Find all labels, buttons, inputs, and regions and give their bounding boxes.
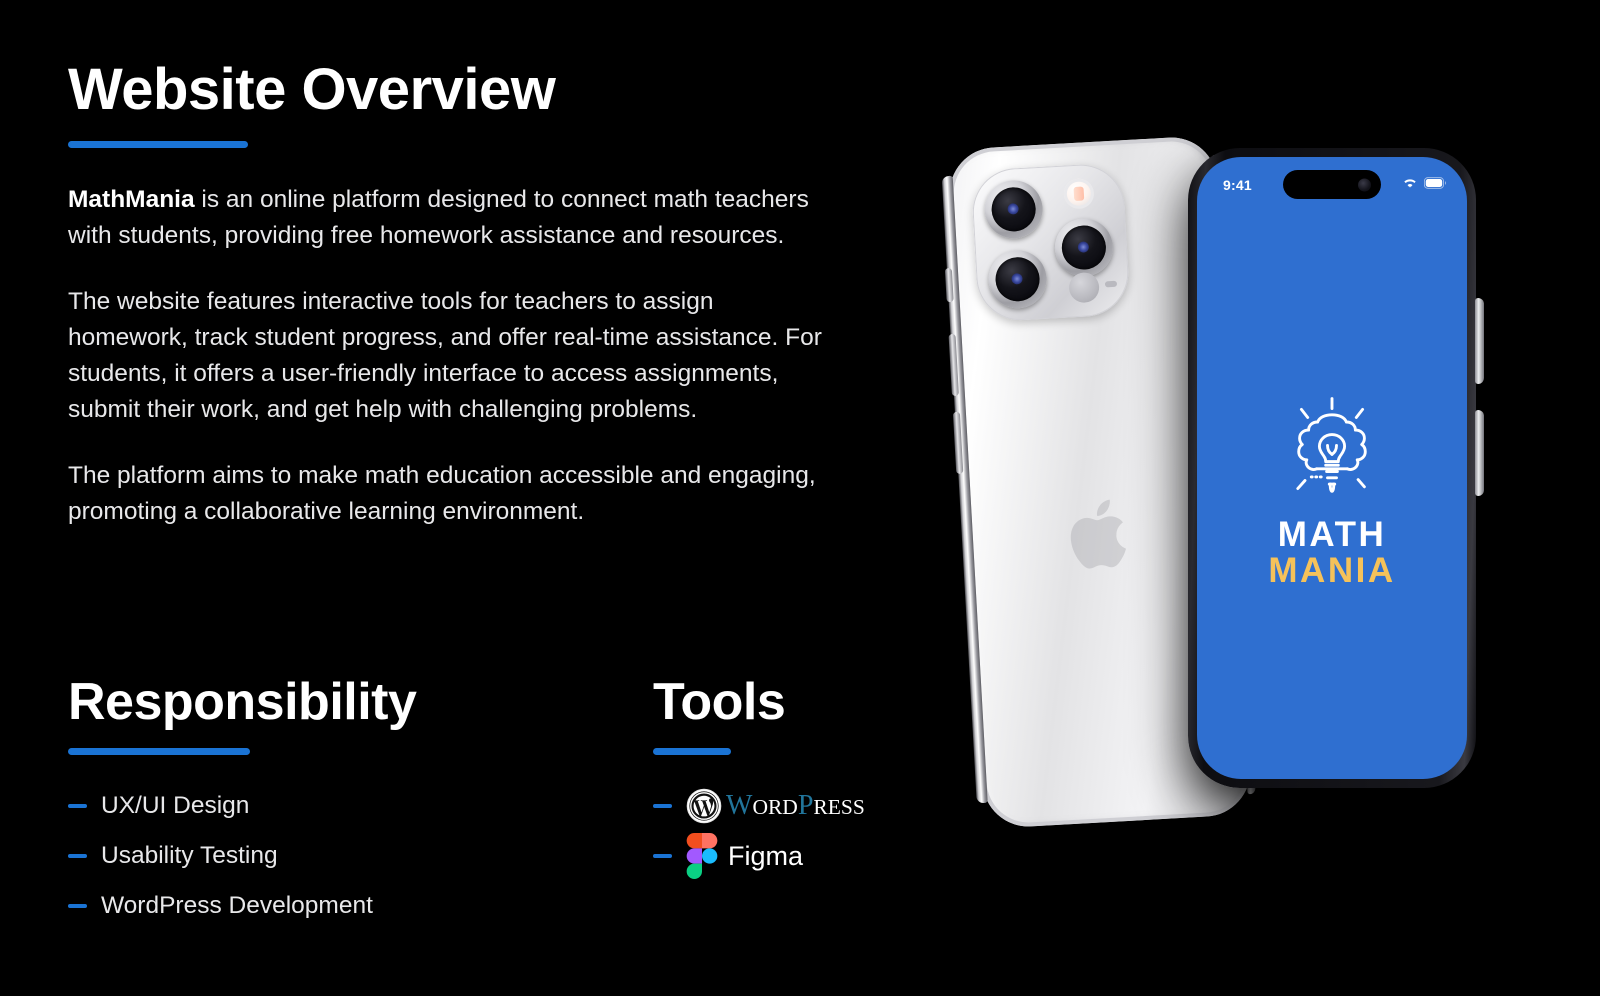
list-item: Usability Testing: [68, 841, 653, 871]
microphone-icon: [1105, 281, 1117, 288]
dash-bullet-icon: [653, 854, 672, 858]
brain-lightbulb-icon: [1278, 393, 1386, 505]
tools-list: WORDPRESS Figma: [653, 791, 888, 871]
wp-letters-ord: ORD: [752, 795, 797, 819]
dash-bullet-icon: [653, 804, 672, 808]
paragraph-2: The website features interactive tools f…: [68, 284, 840, 427]
paragraph-3: The platform aims to make math education…: [68, 458, 840, 530]
phone-mockup: 9:41: [930, 120, 1530, 880]
app-name-line1: MATH: [1278, 517, 1387, 553]
responsibility-item-label: UX/UI Design: [101, 794, 249, 819]
brand-name: MathMania: [68, 186, 195, 213]
page-title: Website Overview: [68, 60, 868, 121]
wordpress-icon: [686, 788, 722, 824]
wifi-icon: [1402, 176, 1418, 189]
figma-wordmark: Figma: [728, 843, 803, 870]
battery-icon: [1424, 177, 1447, 189]
slide-canvas: Website Overview MathMania is an online …: [0, 0, 1600, 996]
dynamic-island: [1283, 170, 1381, 199]
tools-title: Tools: [653, 676, 888, 728]
camera-lens-icon: [987, 249, 1048, 310]
apple-logo-icon: [1068, 492, 1138, 576]
mute-switch: [945, 268, 954, 302]
camera-lens-icon: [983, 179, 1044, 240]
volume-down-button: [953, 412, 963, 474]
dash-bullet-icon: [68, 804, 87, 808]
responsibility-accent-rule: [68, 748, 250, 755]
bottom-sections: Responsibility UX/UI Design Usability Te…: [68, 676, 888, 921]
responsibility-item-label: WordPress Development: [101, 894, 373, 919]
wordpress-wordmark: WORDPRESS: [726, 792, 865, 820]
dash-bullet-icon: [68, 904, 87, 908]
list-item: WordPress Development: [68, 891, 653, 921]
responsibility-title: Responsibility: [68, 676, 653, 728]
list-item: UX/UI Design: [68, 791, 653, 821]
volume-up-button: [949, 334, 959, 396]
wp-letter-p: P: [798, 790, 814, 821]
overview-section: Website Overview MathMania is an online …: [68, 60, 868, 530]
overview-body: MathMania is an online platform designed…: [68, 182, 840, 530]
camera-lens-icon: [1053, 217, 1114, 278]
paragraph-1: MathMania is an online platform designed…: [68, 182, 840, 254]
list-item: WORDPRESS: [653, 791, 888, 821]
camera-module: [970, 162, 1130, 322]
figma-icon: [686, 833, 718, 879]
flash-icon: [1063, 178, 1095, 210]
responsibility-section: Responsibility UX/UI Design Usability Te…: [68, 676, 653, 921]
dash-bullet-icon: [68, 854, 87, 858]
front-camera-icon: [1358, 178, 1371, 191]
tools-section: Tools: [653, 676, 888, 921]
status-bar-indicators: [1402, 176, 1447, 189]
front-phone: 9:41: [1188, 148, 1476, 788]
status-bar-time: 9:41: [1223, 177, 1252, 193]
responsibility-item-label: Usability Testing: [101, 844, 278, 869]
wordpress-logo: WORDPRESS: [686, 788, 865, 824]
figma-logo: Figma: [686, 833, 803, 879]
title-accent-rule: [68, 141, 248, 148]
responsibility-list: UX/UI Design Usability Testing WordPress…: [68, 791, 653, 921]
wp-letter-w: W: [726, 790, 752, 821]
lidar-icon: [1068, 272, 1100, 304]
list-item: Figma: [653, 841, 888, 871]
wp-letters-ress: RESS: [813, 795, 864, 819]
phone-screen: 9:41: [1197, 157, 1467, 779]
tools-accent-rule: [653, 748, 731, 755]
app-branding: MATH MANIA: [1197, 393, 1467, 588]
app-name-line2: MANIA: [1268, 553, 1395, 589]
